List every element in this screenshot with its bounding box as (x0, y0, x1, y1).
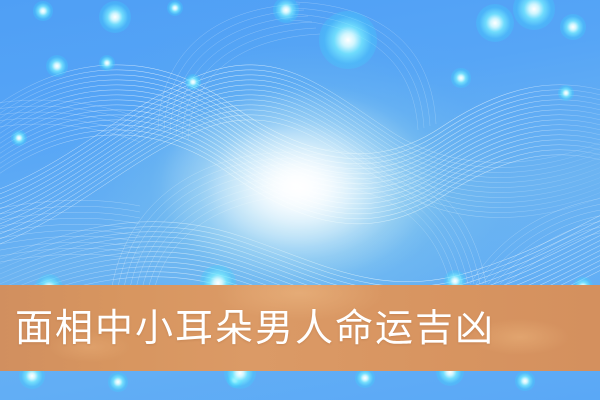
banner-image: 面相中小耳朵男人命运吉凶 (0, 0, 600, 400)
title-band: 面相中小耳朵男人命运吉凶 (0, 285, 600, 371)
page-title: 面相中小耳朵男人命运吉凶 (15, 309, 495, 347)
